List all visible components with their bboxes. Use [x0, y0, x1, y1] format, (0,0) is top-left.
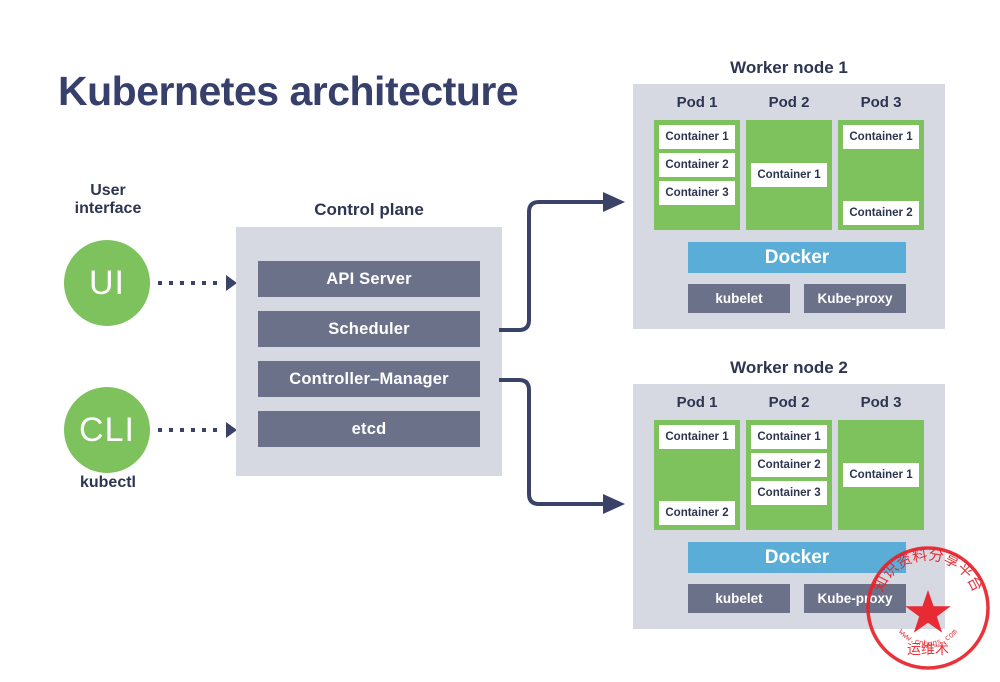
container-box: Container 2: [751, 453, 827, 477]
container-box: Container 1: [843, 125, 919, 149]
worker-node-2-docker-bar[interactable]: Docker: [688, 542, 906, 573]
page-title: Kubernetes architecture: [58, 68, 518, 115]
container-box: Container 1: [751, 163, 827, 187]
arrow-dot: [158, 281, 162, 285]
arrow-dot: [169, 428, 173, 432]
container-box: Container 2: [659, 153, 735, 177]
ui-circle-label: UI: [89, 264, 125, 303]
arrow-dot: [180, 428, 184, 432]
worker-node-2-kubelet[interactable]: kubelet: [688, 584, 790, 613]
container-box: Container 2: [843, 201, 919, 225]
arrow-dot: [191, 281, 195, 285]
worker-node-2-panel: Pod 1 Container 1 Container 2 Pod 2 Cont…: [633, 384, 945, 629]
worker-node-1-kubelet[interactable]: kubelet: [688, 284, 790, 313]
container-box: Container 1: [659, 425, 735, 449]
container-box: Container 1: [751, 425, 827, 449]
worker-node-1-title: Worker node 1: [633, 58, 945, 78]
container-box: Container 2: [659, 501, 735, 525]
pod-box[interactable]: Container 1 Container 2: [838, 120, 924, 230]
pod-box[interactable]: Container 1: [838, 420, 924, 530]
container-box: Container 3: [659, 181, 735, 205]
arrow-dot: [213, 281, 217, 285]
pod-box[interactable]: Container 1 Container 2 Container 3: [654, 120, 740, 230]
component-label: etcd: [352, 420, 387, 439]
pod-label: Pod 2: [746, 394, 832, 411]
seal-url-text: www.cnbugs.com: [897, 627, 959, 648]
diagram-canvas: Kubernetes architecture User interface U…: [0, 0, 1000, 682]
arrow-dot: [191, 428, 195, 432]
worker-node-1-panel: Pod 1 Container 1 Container 2 Container …: [633, 84, 945, 329]
pod-box[interactable]: Container 1 Container 2: [654, 420, 740, 530]
kubectl-label: kubectl: [46, 474, 170, 492]
control-plane-component-scheduler[interactable]: Scheduler: [258, 311, 480, 347]
pod-box[interactable]: Container 1 Container 2 Container 3: [746, 420, 832, 530]
cli-circle[interactable]: CLI: [64, 387, 150, 473]
pod-label: Pod 1: [654, 394, 740, 411]
pod-label: Pod 3: [838, 94, 924, 111]
container-box: Container 1: [659, 125, 735, 149]
arrow-dot: [180, 281, 184, 285]
cli-circle-label: CLI: [79, 411, 135, 450]
user-interface-label: User interface: [46, 182, 170, 219]
control-plane-component-api-server[interactable]: API Server: [258, 261, 480, 297]
arrow-dot: [169, 281, 173, 285]
component-label: API Server: [326, 270, 411, 289]
worker-node-1-kube-proxy[interactable]: Kube-proxy: [804, 284, 906, 313]
ui-circle[interactable]: UI: [64, 240, 150, 326]
worker-node-1-docker-bar[interactable]: Docker: [688, 242, 906, 273]
ui-to-control-plane-arrow-icon: [158, 276, 237, 290]
control-plane-component-etcd[interactable]: etcd: [258, 411, 480, 447]
worker-node-2-title: Worker node 2: [633, 358, 945, 378]
pod-label: Pod 2: [746, 94, 832, 111]
control-plane-component-controller-manager[interactable]: Controller–Manager: [258, 361, 480, 397]
arrow-dot: [202, 428, 206, 432]
arrow-dot: [158, 428, 162, 432]
controller-manager-to-worker-node-2-connector: [495, 368, 635, 518]
pod-label: Pod 3: [838, 394, 924, 411]
seal-bottom-text: 运维术: [907, 642, 949, 658]
arrow-dot: [213, 428, 217, 432]
component-label: Scheduler: [328, 320, 410, 339]
arrow-dot: [202, 281, 206, 285]
worker-node-2-kube-proxy[interactable]: Kube-proxy: [804, 584, 906, 613]
container-box: Container 3: [751, 481, 827, 505]
component-label: Controller–Manager: [289, 370, 448, 389]
control-plane-panel: API Server Scheduler Controller–Manager …: [236, 227, 502, 476]
pod-label: Pod 1: [654, 94, 740, 111]
pod-box[interactable]: Container 1: [746, 120, 832, 230]
scheduler-to-worker-node-1-connector: [495, 190, 635, 340]
cli-to-control-plane-arrow-icon: [158, 423, 237, 437]
control-plane-label: Control plane: [236, 200, 502, 220]
container-box: Container 1: [843, 463, 919, 487]
